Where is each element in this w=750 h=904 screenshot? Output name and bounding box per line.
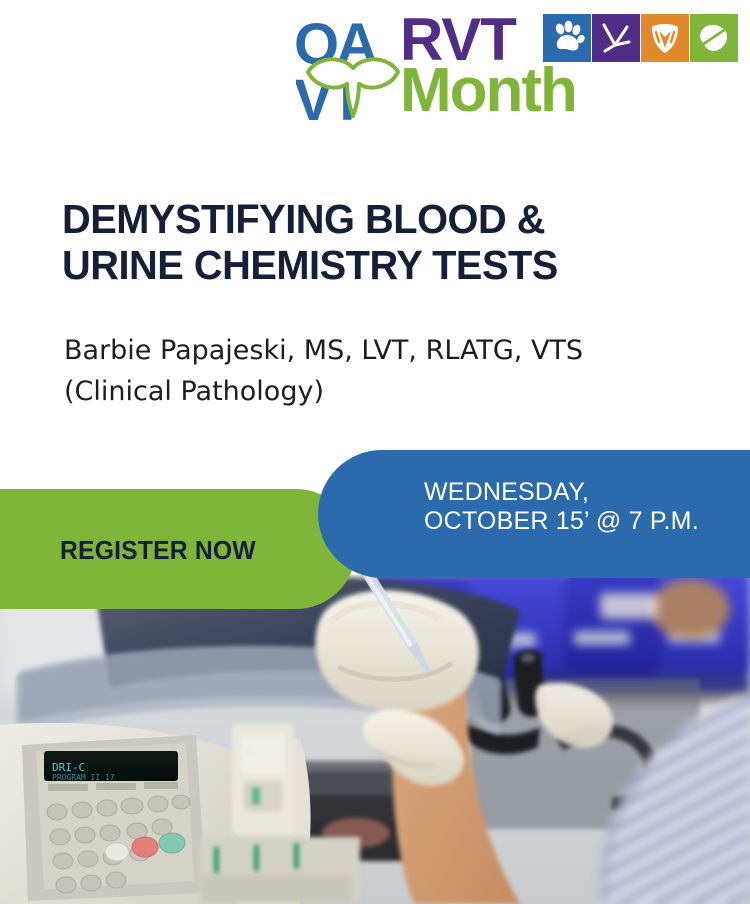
species-icon-strip <box>543 14 738 62</box>
event-date-banner: WEDNESDAY, OCTOBER 15’ @ 7 P.M. <box>318 450 750 578</box>
speaker-name-line: Barbie Papajeski, MS, LVT, RLATG, VTS <box>64 330 724 371</box>
month-word: Month <box>400 60 576 122</box>
logo-header: OA VT RVT Month <box>0 0 750 150</box>
oavt-logo-mark: OA VT <box>296 12 412 126</box>
register-now-button[interactable]: REGISTER NOW <box>0 489 356 609</box>
title-line-2: URINE CHEMISTRY TESTS <box>62 242 702 288</box>
speaker-credentials: Barbie Papajeski, MS, LVT, RLATG, VTS (C… <box>64 330 724 412</box>
register-now-label: REGISTER NOW <box>60 535 256 566</box>
speaker-specialty-line: (Clinical Pathology) <box>64 371 724 412</box>
page-title: DEMYSTIFYING BLOOD & URINE CHEMISTRY TES… <box>62 196 722 288</box>
event-datetime-line: OCTOBER 15’ @ 7 P.M. <box>424 507 744 536</box>
pill-capsule-icon <box>690 14 738 62</box>
shield-crest-icon <box>641 14 689 62</box>
rvt-month-wordmark: RVT Month <box>400 8 740 132</box>
event-day-line: WEDNESDAY, <box>424 478 744 507</box>
lab-scene-illustration: DRI-C PROGRAM II 17 <box>0 575 750 904</box>
title-line-1: DEMYSTIFYING BLOOD & <box>62 196 702 242</box>
laboratory-photo: DRI-C PROGRAM II 17 <box>0 575 750 904</box>
bird-track-icon <box>592 14 640 62</box>
event-date-text: WEDNESDAY, OCTOBER 15’ @ 7 P.M. <box>424 478 744 536</box>
paw-print-icon <box>543 14 591 62</box>
